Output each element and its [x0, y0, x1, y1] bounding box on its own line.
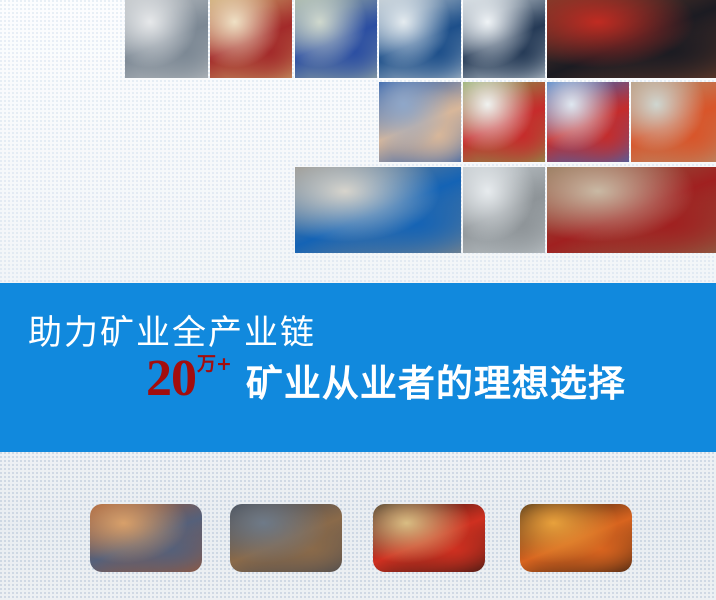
- promo-page: 助力矿业全产业链 20 万+ 矿业从业者的理想选择: [0, 0, 716, 600]
- thumb-miner-portrait: [230, 504, 342, 572]
- photo-woman-sampling: [463, 167, 545, 253]
- thumbnail-strip: [0, 452, 716, 600]
- photo-lab-microscope: [125, 0, 208, 78]
- member-count-unit: 万+: [197, 355, 232, 374]
- photo-collage: [0, 0, 716, 283]
- slogan-line-2-text: 矿业从业者的理想选择: [246, 363, 626, 405]
- photo-company-signboard: [295, 167, 461, 253]
- slogan-line-2: 20 万+ 矿业从业者的理想选择: [146, 353, 626, 405]
- slogan-banner: 助力矿业全产业链 20 万+ 矿业从业者的理想选择: [0, 283, 716, 452]
- thumb-two-workers-helmet: [373, 504, 485, 572]
- thumb-furnace-worker: [520, 504, 632, 572]
- photo-award-ceremony: [210, 0, 292, 78]
- thumb-geologist-field: [90, 504, 202, 572]
- slogan-line-1: 助力矿业全产业链: [28, 305, 316, 354]
- photo-two-engineers: [463, 0, 545, 78]
- photo-mine-plant-group: [547, 82, 629, 162]
- photo-banner-outdoor-event: [463, 82, 545, 162]
- member-count-number: 20: [146, 353, 196, 405]
- photo-chairman-office: [547, 0, 716, 78]
- photo-sample-prep-lab: [379, 0, 461, 78]
- photo-helmet-crew-desert: [631, 82, 716, 162]
- photo-conference-group: [547, 167, 716, 253]
- photo-field-team-mountain: [295, 0, 377, 78]
- photo-crew-blue-uniform: [379, 82, 461, 162]
